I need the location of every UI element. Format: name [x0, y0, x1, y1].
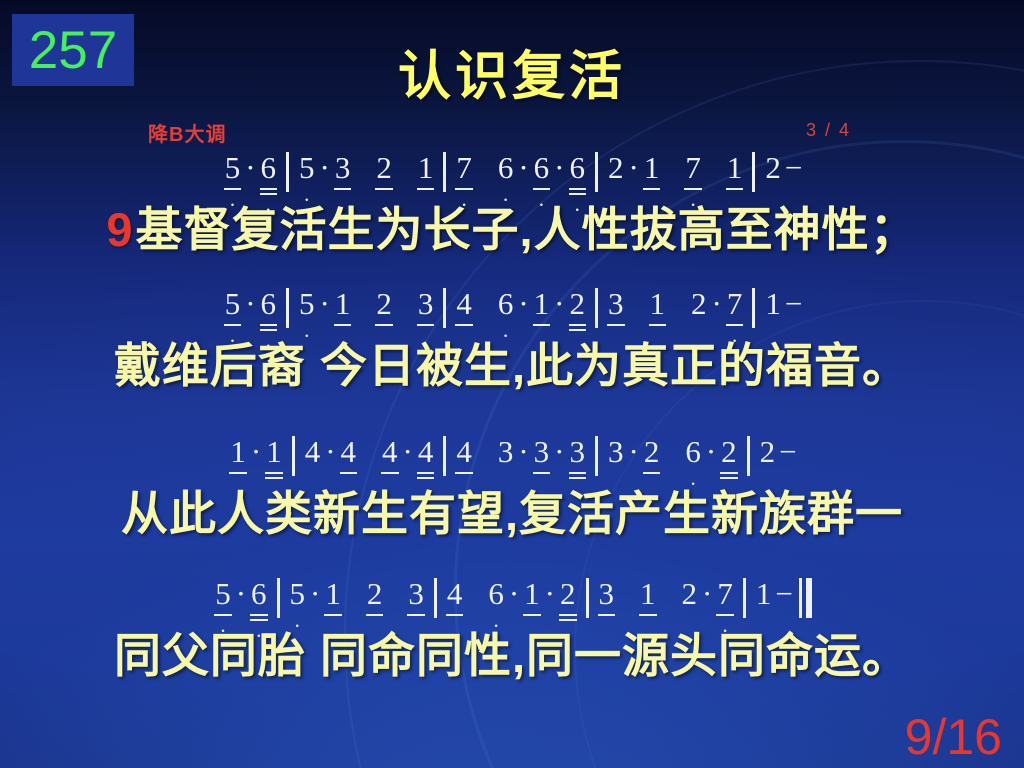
jianpu-note: 1	[332, 288, 354, 321]
jianpu-note: 4	[379, 436, 401, 469]
notation-row: 5··6·5··12346··1·2312·7·1−	[0, 288, 1024, 340]
jianpu-note-glyph: 3	[418, 288, 434, 321]
jianpu-note-glyph: 2	[608, 152, 624, 185]
jianpu-note: 5·	[222, 152, 244, 185]
barline	[747, 436, 750, 476]
octave-dot-low: ·	[495, 198, 517, 202]
barline	[595, 288, 598, 328]
barline	[743, 578, 746, 618]
duration-dash: −	[784, 288, 802, 321]
jianpu-note-glyph: 2	[760, 436, 776, 469]
jianpu-note: 1	[647, 288, 669, 321]
measure: 1−	[762, 288, 802, 321]
jianpu-note: 2	[567, 288, 589, 321]
augmentation-dot: ·	[516, 436, 530, 469]
jianpu-note-glyph: 5	[299, 152, 315, 185]
jianpu-note: 2	[605, 152, 627, 185]
jianpu-note-glyph: 5	[225, 288, 241, 321]
lyric-row: 戴维后裔 今日被生,此为真正的福音。	[0, 340, 1024, 393]
jianpu-note: 1	[641, 152, 663, 185]
measure: 2−	[757, 436, 797, 469]
augmentation-dot: ·	[323, 436, 337, 469]
page-title: 认识复活	[0, 34, 1024, 110]
barline	[586, 578, 589, 618]
jianpu-note-glyph: 6	[261, 152, 277, 185]
jianpu-note-glyph: 5	[299, 288, 315, 321]
jianpu-note: 1	[753, 578, 775, 611]
notation-row: 1·14·44·443·3·33·26··22−	[0, 436, 1024, 488]
octave-dot-low: ·	[287, 624, 309, 628]
jianpu-note: 1	[263, 436, 285, 469]
jianpu-note-glyph: 6	[488, 578, 504, 611]
jianpu-note-glyph: 4	[305, 436, 321, 469]
jianpu-note: 7·	[453, 152, 475, 185]
augmentation-dot: ·	[543, 578, 557, 611]
jianpu-note: 6·	[495, 288, 517, 321]
augmentation-dot: ·	[308, 578, 322, 611]
jianpu-note-glyph: 2	[644, 436, 660, 469]
jianpu-note-glyph: 2	[376, 152, 392, 185]
jianpu-note-glyph: 2	[682, 578, 698, 611]
jianpu-note-glyph: 1	[325, 578, 341, 611]
hymn-slide: 257 认识复活 降B大调 3 / 4 5··6·5··3217·6··6··6…	[0, 0, 1024, 768]
jianpu-note: 7·	[724, 288, 746, 321]
jianpu-note: 4	[302, 436, 324, 469]
jianpu-note-glyph: 1	[266, 436, 282, 469]
jianpu-note-glyph: 3	[335, 152, 351, 185]
measure: 46··1·2	[444, 578, 579, 611]
jianpu-note: 1	[637, 578, 659, 611]
augmentation-dot: ·	[516, 152, 530, 185]
augmentation-dot: ·	[516, 288, 530, 321]
barline	[286, 152, 289, 192]
jianpu-note-glyph: 2	[691, 288, 707, 321]
jianpu-note-glyph: 3	[408, 578, 424, 611]
jianpu-note-glyph: 1	[335, 288, 351, 321]
jianpu-note: 5·	[296, 288, 318, 321]
jianpu-note: 4	[453, 288, 475, 321]
stanza: 1·14·44·443·3·33·26··22−从此人类新生有望,复活产生新族群…	[0, 436, 1024, 541]
jianpu-note: 5·	[212, 578, 234, 611]
measure: 2·17·1	[605, 152, 745, 185]
measure: 1−	[753, 578, 793, 611]
jianpu-note-glyph: 7	[456, 152, 472, 185]
jianpu-note-glyph: 6	[261, 288, 277, 321]
jianpu-note: 1	[521, 578, 543, 611]
augmentation-dot: ·	[704, 436, 718, 469]
jianpu-note-glyph: 1	[524, 578, 540, 611]
jianpu-note: 3	[332, 152, 354, 185]
jianpu-note-glyph: 4	[341, 436, 357, 469]
jianpu-note-glyph: 2	[721, 436, 737, 469]
barline	[595, 436, 598, 476]
measure: 5··6·	[212, 578, 269, 611]
jianpu-note-glyph: 4	[456, 288, 472, 321]
notation-row: 5··6·5··12346··1·2312·7·1−	[0, 578, 1024, 630]
augmentation-dot: ·	[318, 288, 332, 321]
measure: 5··6·	[222, 288, 279, 321]
jianpu-note: 6·	[531, 152, 553, 185]
jianpu-note-glyph: 3	[608, 288, 624, 321]
jianpu-note: 3	[605, 288, 627, 321]
jianpu-note-glyph: 2	[570, 288, 586, 321]
jianpu-note: 2	[679, 578, 701, 611]
lyric-text: 从此人类新生有望,复活产生新族群一	[121, 488, 903, 541]
barline	[752, 152, 755, 192]
time-signature-label: 3 / 4	[806, 120, 851, 141]
octave-dot-low: ·	[296, 334, 318, 338]
key-signature-label: 降B大调	[148, 118, 226, 147]
jianpu-note: 3	[495, 436, 517, 469]
stanza: 5··6·5··3217·6··6··6·2·17·12−9基督复活生为长子,人…	[0, 152, 1024, 257]
jianpu-note: 5·	[296, 152, 318, 185]
octave-dot-low: ·	[682, 482, 704, 486]
jianpu-note: 4	[444, 578, 466, 611]
jianpu-note: 6·	[258, 288, 280, 321]
jianpu-note-glyph: 1	[765, 288, 781, 321]
jianpu-note-glyph: 3	[599, 578, 615, 611]
augmentation-dot: ·	[627, 436, 641, 469]
augmentation-dot: ·	[318, 152, 332, 185]
barline	[434, 578, 437, 618]
augmentation-dot: ·	[710, 288, 724, 321]
octave-dot-low: ·	[296, 198, 318, 202]
jianpu-note-glyph: 6	[498, 152, 514, 185]
jianpu-note-glyph: 1	[644, 152, 660, 185]
jianpu-note-glyph: 1	[418, 152, 434, 185]
jianpu-note: 2	[641, 436, 663, 469]
octave-dot-low: ·	[495, 334, 517, 338]
jianpu-note: 1	[227, 436, 249, 469]
jianpu-note: 1	[322, 578, 344, 611]
jianpu-note-glyph: 6	[498, 288, 514, 321]
measure: 3·26··2	[605, 436, 740, 469]
jianpu-note-glyph: 5	[225, 152, 241, 185]
jianpu-note-glyph: 2	[367, 578, 383, 611]
page-counter: 9/16	[905, 712, 1002, 762]
jianpu-note-glyph: 2	[376, 288, 392, 321]
augmentation-dot: ·	[552, 152, 566, 185]
barline	[443, 152, 446, 192]
jianpu-note-glyph: 5	[290, 578, 306, 611]
jianpu-note: 2	[373, 288, 395, 321]
jianpu-note-glyph: 1	[727, 152, 743, 185]
jianpu-note-glyph: 3	[608, 436, 624, 469]
jianpu-note-glyph: 4	[418, 436, 434, 469]
jianpu-note: 3	[405, 578, 427, 611]
measure: 43·3·3	[453, 436, 588, 469]
duration-dash: −	[784, 152, 802, 185]
jianpu-note: 2	[757, 436, 779, 469]
jianpu-note: 3	[531, 436, 553, 469]
augmentation-dot: ·	[243, 288, 257, 321]
jianpu-note: 6·	[258, 152, 280, 185]
stanza: 5··6·5··12346··1·2312·7·1−戴维后裔 今日被生,此为真正…	[0, 288, 1024, 393]
augmentation-dot: ·	[249, 436, 263, 469]
jianpu-note: 6·	[485, 578, 507, 611]
jianpu-note-glyph: 2	[765, 152, 781, 185]
jianpu-note-glyph: 3	[570, 436, 586, 469]
barline	[292, 436, 295, 476]
measure: 5··123	[296, 288, 436, 321]
jianpu-note-glyph: 1	[650, 288, 666, 321]
jianpu-note: 2	[718, 436, 740, 469]
lyric-text: 基督复活生为长子,人性拔高至神性；	[136, 204, 918, 257]
measure: 5··321	[296, 152, 436, 185]
jianpu-note-glyph: 3	[498, 436, 514, 469]
lyric-row: 同父同胎 同命同性,同一源头同命运。	[0, 630, 1024, 683]
barline	[443, 288, 446, 328]
augmentation-dot: ·	[243, 152, 257, 185]
jianpu-note-glyph: 6	[570, 152, 586, 185]
jianpu-note: 2	[762, 152, 784, 185]
measure: 4·44·4	[302, 436, 437, 469]
octave-dot-low: ·	[485, 624, 507, 628]
jianpu-note: 3	[596, 578, 618, 611]
measure: 2−	[762, 152, 802, 185]
jianpu-note-glyph: 2	[560, 578, 576, 611]
jianpu-note-glyph: 6	[251, 578, 267, 611]
jianpu-note: 1	[415, 152, 437, 185]
jianpu-note-glyph: 4	[456, 436, 472, 469]
jianpu-note: 3	[605, 436, 627, 469]
augmentation-dot: ·	[552, 288, 566, 321]
measure: 312·7·	[596, 578, 736, 611]
jianpu-note-glyph: 1	[534, 288, 550, 321]
duration-dash: −	[774, 578, 792, 611]
augmentation-dot: ·	[627, 152, 641, 185]
jianpu-note-glyph: 7	[717, 578, 733, 611]
jianpu-note: 7·	[714, 578, 736, 611]
verse-number-marker: 9	[106, 204, 133, 257]
augmentation-dot: ·	[552, 436, 566, 469]
lyric-row: 9基督复活生为长子,人性拔高至神性；	[0, 204, 1024, 257]
jianpu-note: 5·	[222, 288, 244, 321]
barline	[443, 436, 446, 476]
jianpu-note: 6·	[248, 578, 270, 611]
jianpu-note: 4	[453, 436, 475, 469]
jianpu-note-glyph: 6	[534, 152, 550, 185]
jianpu-note: 5·	[287, 578, 309, 611]
jianpu-note: 6·	[567, 152, 589, 185]
jianpu-note: 3	[415, 288, 437, 321]
final-double-barline	[799, 578, 812, 618]
jianpu-note-glyph: 6	[685, 436, 701, 469]
measure: 1·1	[227, 436, 284, 469]
augmentation-dot: ·	[507, 578, 521, 611]
barline	[277, 578, 280, 618]
measure: 5··6·	[222, 152, 279, 185]
jianpu-note: 4	[338, 436, 360, 469]
jianpu-note-glyph: 1	[756, 578, 772, 611]
measure: 7·6··6··6·	[453, 152, 588, 185]
notation-row: 5··6·5··3217·6··6··6·2·17·12−	[0, 152, 1024, 204]
jianpu-note: 1	[531, 288, 553, 321]
jianpu-note-glyph: 3	[534, 436, 550, 469]
jianpu-note-glyph: 4	[447, 578, 463, 611]
lyric-row: 从此人类新生有望,复活产生新族群一	[0, 488, 1024, 541]
jianpu-note-glyph: 7	[685, 152, 701, 185]
jianpu-note: 1	[724, 152, 746, 185]
jianpu-note: 2	[373, 152, 395, 185]
jianpu-note-glyph: 5	[215, 578, 231, 611]
jianpu-note: 4	[415, 436, 437, 469]
jianpu-note: 2	[557, 578, 579, 611]
lyric-text: 同父同胎 同命同性,同一源头同命运。	[114, 630, 910, 683]
jianpu-note: 6·	[682, 436, 704, 469]
barline	[286, 288, 289, 328]
jianpu-note-glyph: 7	[727, 288, 743, 321]
jianpu-note: 1	[762, 288, 784, 321]
measure: 5··123	[287, 578, 427, 611]
jianpu-note: 2	[364, 578, 386, 611]
jianpu-note: 7·	[682, 152, 704, 185]
augmentation-dot: ·	[234, 578, 248, 611]
jianpu-note-glyph: 4	[382, 436, 398, 469]
barline	[752, 288, 755, 328]
measure: 46··1·2	[453, 288, 588, 321]
lyric-text: 戴维后裔 今日被生,此为真正的福音。	[114, 340, 910, 393]
duration-dash: −	[778, 436, 796, 469]
jianpu-note-glyph: 1	[230, 436, 246, 469]
measure: 312·7·	[605, 288, 745, 321]
jianpu-note: 3	[567, 436, 589, 469]
jianpu-note: 6·	[495, 152, 517, 185]
augmentation-dot: ·	[401, 436, 415, 469]
jianpu-note-glyph: 1	[640, 578, 656, 611]
augmentation-dot: ·	[700, 578, 714, 611]
barline	[595, 152, 598, 192]
stanza: 5··6·5··12346··1·2312·7·1−同父同胎 同命同性,同一源头…	[0, 578, 1024, 683]
jianpu-note: 2	[688, 288, 710, 321]
